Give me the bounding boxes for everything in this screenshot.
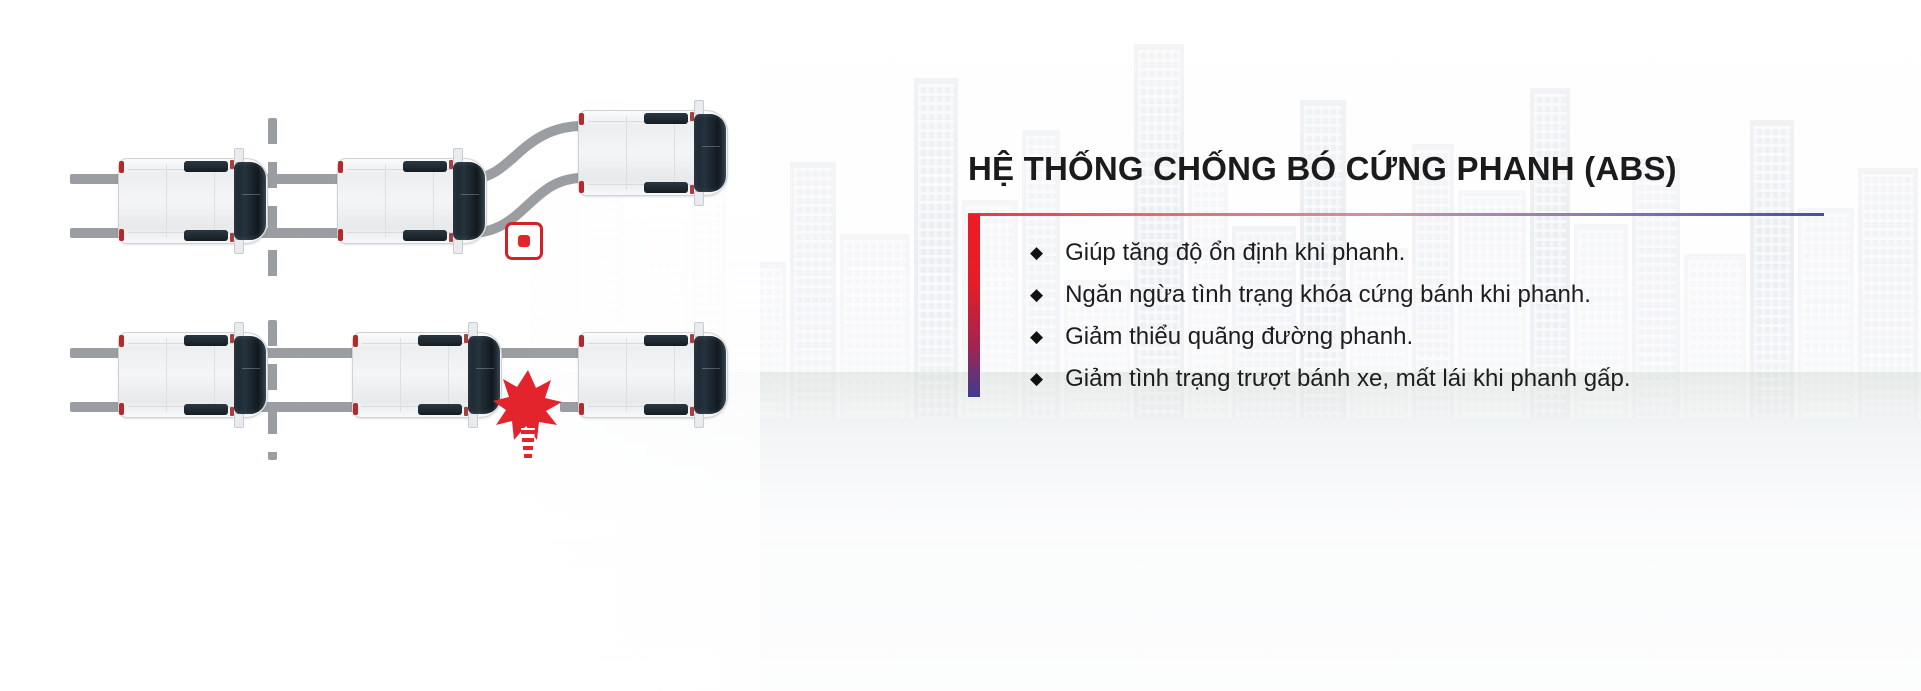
center-dashed-line-bottom bbox=[268, 320, 277, 460]
collision-burst-icon bbox=[493, 368, 563, 468]
text-panel: HỆ THỐNG CHỐNG BÓ CỨNG PHANH (ABS) ◆ Giú… bbox=[968, 150, 1848, 400]
vehicle-top-1 bbox=[118, 158, 268, 244]
vehicle-bottom-3 bbox=[578, 332, 728, 418]
vehicle-bottom-1 bbox=[118, 332, 268, 418]
benefits-list: ◆ Giúp tăng độ ổn định khi phanh. ◆ Ngăn… bbox=[1030, 232, 1848, 400]
diamond-bullet-icon: ◆ bbox=[1030, 244, 1043, 261]
list-item: ◆ Giảm thiểu quãng đường phanh. bbox=[1030, 316, 1848, 358]
swerve-trajectory-paths bbox=[0, 0, 790, 560]
obstacle-marker-icon bbox=[505, 222, 543, 260]
list-item: ◆ Ngăn ngừa tình trạng khóa cứng bánh kh… bbox=[1030, 274, 1848, 316]
center-dashed-line-top bbox=[268, 118, 277, 286]
infographic-canvas: HỆ THỐNG CHỐNG BÓ CỨNG PHANH (ABS) ◆ Giú… bbox=[0, 0, 1921, 691]
list-item-label: Giúp tăng độ ổn định khi phanh. bbox=[1065, 241, 1405, 265]
gradient-divider bbox=[968, 213, 1824, 216]
diamond-bullet-icon: ◆ bbox=[1030, 328, 1043, 345]
diamond-bullet-icon: ◆ bbox=[1030, 370, 1043, 387]
vehicle-top-2 bbox=[337, 158, 487, 244]
page-title: HỆ THỐNG CHỐNG BÓ CỨNG PHANH (ABS) bbox=[968, 150, 1848, 188]
list-item: ◆ Giúp tăng độ ổn định khi phanh. bbox=[1030, 232, 1848, 274]
list-item-label: Ngăn ngừa tình trạng khóa cứng bánh khi … bbox=[1065, 283, 1591, 307]
accent-vertical-bar bbox=[968, 214, 980, 397]
list-item-label: Giảm tình trạng trượt bánh xe, mất lái k… bbox=[1065, 367, 1630, 391]
list-item-label: Giảm thiểu quãng đường phanh. bbox=[1065, 325, 1413, 349]
abs-comparison-diagram bbox=[0, 0, 790, 560]
diamond-bullet-icon: ◆ bbox=[1030, 286, 1043, 303]
benefits-list-wrapper: ◆ Giúp tăng độ ổn định khi phanh. ◆ Ngăn… bbox=[968, 232, 1848, 400]
vehicle-top-3-swerved bbox=[578, 110, 728, 196]
vehicle-bottom-2-skidding bbox=[352, 332, 502, 418]
list-item: ◆ Giảm tình trạng trượt bánh xe, mất lái… bbox=[1030, 358, 1848, 400]
